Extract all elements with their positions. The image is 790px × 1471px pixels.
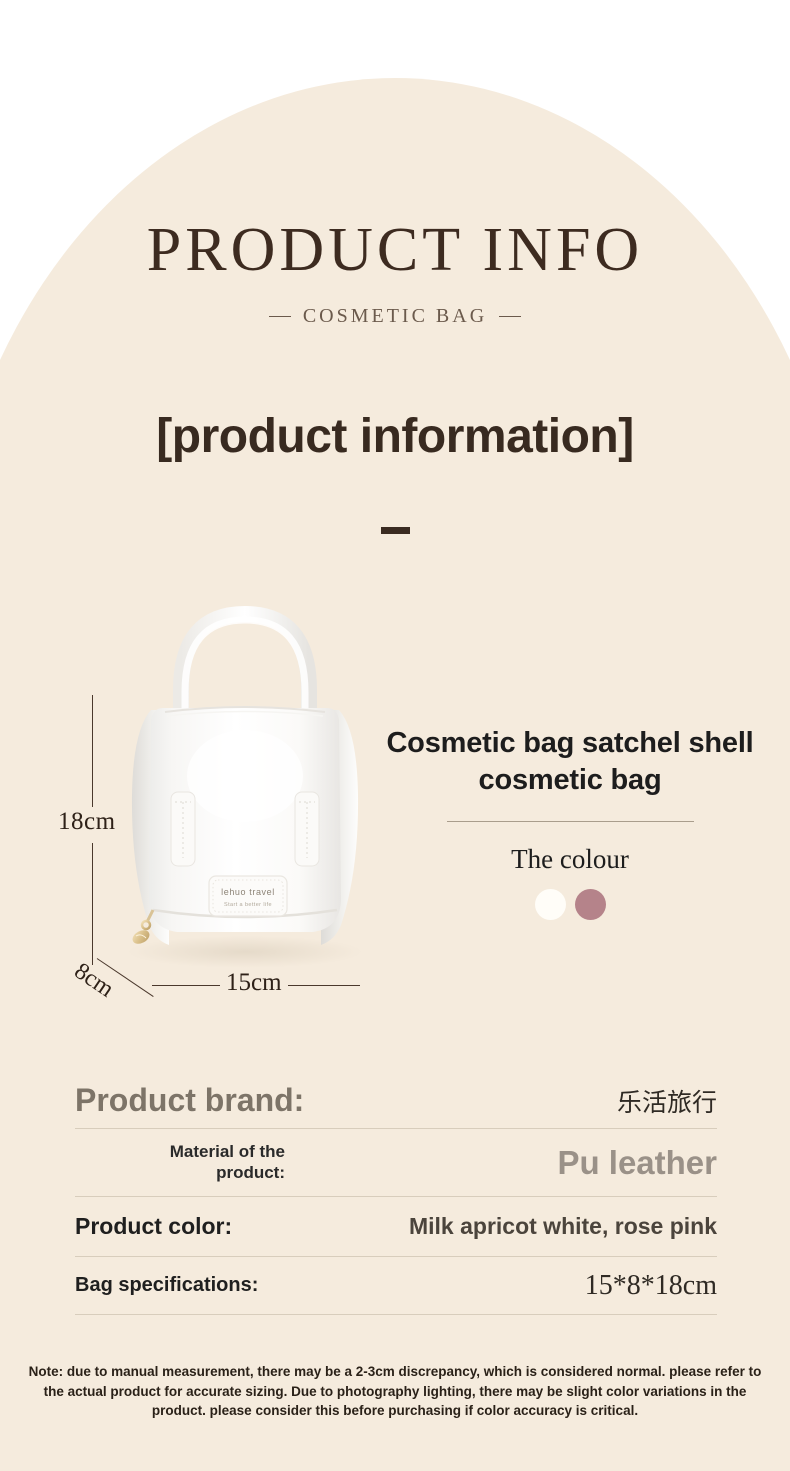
product-info-column: Cosmetic bag satchel shell cosmetic bag …	[380, 725, 760, 920]
info-divider	[447, 821, 694, 822]
section-heading: [product information]	[0, 409, 790, 464]
bag-handle-tab-left	[171, 792, 195, 866]
spec-key-brand: Product brand:	[75, 1082, 304, 1119]
zipper-pull-icon	[130, 910, 153, 947]
table-row: Product color: Milk apricot white, rose …	[75, 1197, 717, 1257]
page-title: PRODUCT INFO	[0, 218, 790, 283]
spec-value-specifications: 15*8*18cm	[585, 1270, 717, 1302]
header-subtitle: COSMETIC BAG	[0, 305, 790, 328]
table-row: Material of the product: Pu leather	[75, 1129, 717, 1197]
footer-note: Note: due to manual measurement, there m…	[22, 1362, 768, 1421]
header-subtitle-text: COSMETIC BAG	[303, 305, 487, 328]
width-dimension-label: 15cm	[226, 969, 282, 997]
svg-text:Start a better life: Start a better life	[224, 902, 272, 908]
product-name: Cosmetic bag satchel shell cosmetic bag	[380, 725, 760, 799]
spec-value-color: Milk apricot white, rose pink	[409, 1213, 717, 1240]
bag-drawing-svg: lehuo travel Start a better life	[105, 580, 385, 980]
height-dimension-line-bottom	[92, 843, 93, 965]
spec-value-material: Pu leather	[557, 1144, 717, 1182]
height-dimension-label: 18cm	[58, 808, 116, 836]
spec-value-brand: 乐活旅行	[617, 1083, 717, 1119]
dash-right-icon	[499, 316, 521, 317]
colour-swatch-white[interactable]	[535, 889, 566, 920]
heading-underline-rule	[381, 527, 410, 534]
cosmetic-bag-image: lehuo travel Start a better life	[105, 580, 385, 980]
table-row: Bag specifications: 15*8*18cm	[75, 1257, 717, 1315]
svg-text:lehuo travel: lehuo travel	[221, 887, 275, 897]
spec-key-color: Product color:	[75, 1213, 232, 1240]
colour-section-label: The colour	[380, 844, 760, 875]
width-dimension-line-right	[288, 985, 360, 986]
specification-table: Product brand: 乐活旅行 Material of the prod…	[75, 1073, 717, 1315]
colour-swatch-group	[380, 889, 760, 920]
width-dimension-line-left	[152, 985, 220, 986]
product-info-page: PRODUCT INFO COSMETIC BAG [product infor…	[0, 0, 790, 1471]
dash-left-icon	[269, 316, 291, 317]
height-dimension-line-top	[92, 695, 93, 807]
table-row: Product brand: 乐活旅行	[75, 1073, 717, 1129]
bag-handle-tab-right	[295, 792, 319, 866]
header-block: PRODUCT INFO COSMETIC BAG	[0, 218, 790, 328]
bag-brand-label: lehuo travel Start a better life	[209, 876, 287, 916]
spec-key-specifications: Bag specifications:	[75, 1274, 258, 1297]
colour-swatch-rose-pink[interactable]	[575, 889, 606, 920]
spec-key-material: Material of the product:	[75, 1142, 285, 1182]
